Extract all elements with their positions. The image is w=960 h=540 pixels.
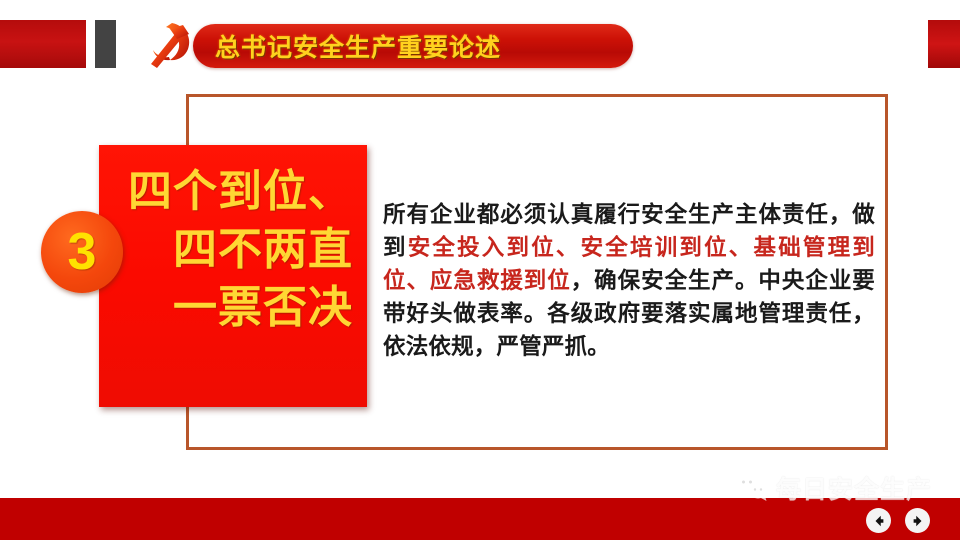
- section-number-badge: 3: [41, 211, 123, 293]
- header-right-red-block: [928, 20, 960, 68]
- header-left-red-block: [0, 20, 86, 68]
- title-red-box-text: 四个到位、 四不两直 一票否决: [99, 163, 353, 337]
- wechat-logo-icon: [735, 473, 769, 503]
- header-banner: 总书记安全生产重要论述: [193, 24, 633, 68]
- slide-navigation: [866, 508, 930, 533]
- title-red-box: 四个到位、 四不两直 一票否决: [99, 145, 367, 407]
- next-slide-arrow-icon[interactable]: [905, 508, 930, 533]
- watermark-text: 每日安全生产: [776, 470, 932, 506]
- slide-canvas: 总书记安全生产重要论述 四个到位、 四不两直 一票否决 3: [0, 0, 960, 540]
- watermark: 每日安全生产: [735, 470, 932, 506]
- section-number-badge-label: 3: [68, 226, 97, 278]
- cpc-party-emblem-icon: [142, 18, 198, 70]
- body-paragraph: 所有企业都必须认真履行安全生产主体责任，做到安全投入到位、安全培训到位、基础管理…: [383, 198, 875, 363]
- prev-slide-arrow-icon[interactable]: [866, 508, 891, 533]
- header-banner-title: 总书记安全生产重要论述: [193, 24, 633, 68]
- header-dark-bar: [95, 20, 116, 68]
